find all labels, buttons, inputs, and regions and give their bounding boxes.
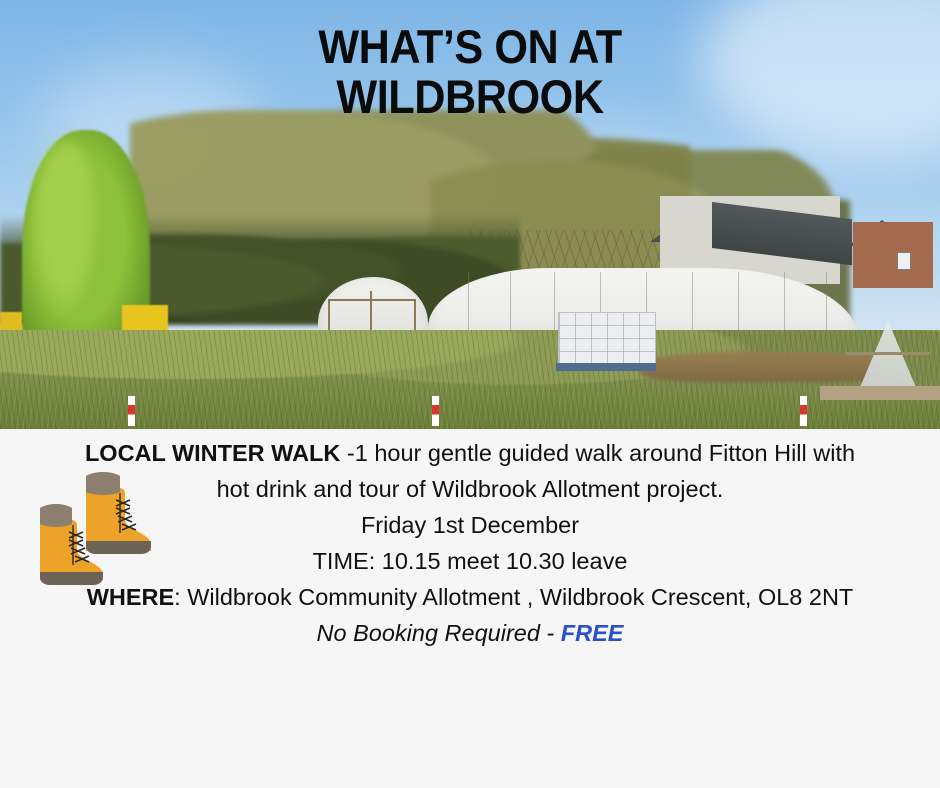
- ibc-tank-pallet: [556, 363, 656, 371]
- ibc-water-tank: [558, 312, 656, 366]
- walking-boots-icon: [24, 462, 156, 594]
- house-window: [897, 252, 911, 270]
- partner-logo-bar: COMMUNITY FOOD GROWING and LOCAL FOOD SO…: [0, 681, 940, 788]
- bare-soil-patch: [640, 352, 880, 382]
- detail-free-badge: FREE: [561, 620, 624, 646]
- detail-booking-text: No Booking Required -: [317, 620, 561, 646]
- ground-marker-post: [432, 396, 439, 426]
- detail-line-booking: No Booking Required - FREE: [0, 615, 940, 651]
- poster: WHAT’S ON AT WILDBROOK LOCAL WINTER WALK…: [0, 0, 940, 788]
- house-right-wall: [853, 222, 933, 288]
- detail-where-rest: : Wildbrook Community Allotment , Wildbr…: [174, 584, 853, 610]
- ground-marker-post: [128, 396, 135, 426]
- detail-headline-rest: -1 hour gentle guided walk around Fitton…: [340, 440, 855, 466]
- timber-plank: [820, 386, 940, 400]
- poster-title: WHAT’S ON AT WILDBROOK: [38, 22, 903, 122]
- ground-marker-post: [800, 396, 807, 426]
